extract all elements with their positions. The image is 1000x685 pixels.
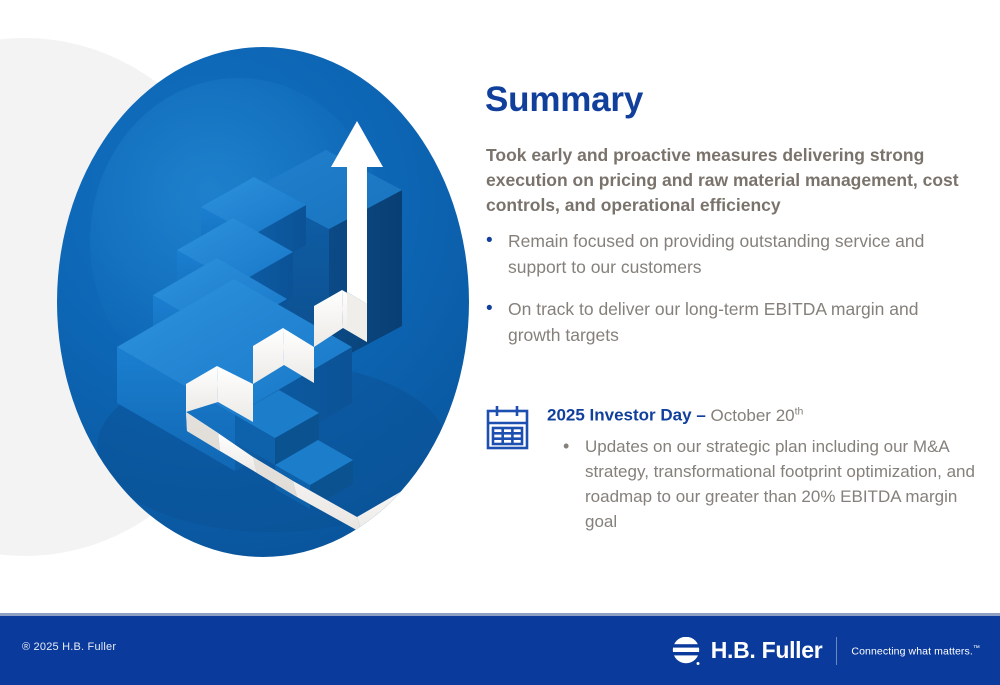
hb-fuller-circle-logo-icon bbox=[672, 635, 702, 667]
page-title: Summary bbox=[485, 80, 643, 120]
list-item: • On track to deliver our long-term EBIT… bbox=[486, 296, 956, 348]
investor-day-date: October 20th bbox=[711, 406, 804, 425]
stairs-illustration bbox=[57, 47, 469, 557]
content-zone: Summary Took early and proactive measure… bbox=[485, 0, 985, 615]
bullet-text: Updates on our strategic plan including … bbox=[585, 434, 985, 534]
bullet-list: • Remain focused on providing outstandin… bbox=[486, 228, 956, 364]
bullet-dot-icon: • bbox=[486, 228, 508, 280]
bullet-dot-icon: • bbox=[486, 296, 508, 348]
brand-logo: H.B. Fuller Connecting what matters.™ bbox=[672, 633, 980, 669]
list-item: • Updates on our strategic plan includin… bbox=[547, 434, 985, 534]
investor-day-body: 2025 Investor Day – October 20th • Updat… bbox=[547, 400, 985, 534]
logo-wordmark: H.B. Fuller bbox=[711, 639, 823, 664]
brand-tagline: Connecting what matters.™ bbox=[851, 645, 980, 658]
bullet-text: On track to deliver our long-term EBITDA… bbox=[508, 296, 956, 348]
trademark-icon: ™ bbox=[973, 645, 980, 652]
slide-root: Summary Took early and proactive measure… bbox=[0, 0, 1000, 685]
bullet-dot-icon: • bbox=[563, 434, 585, 534]
calendar-icon bbox=[485, 404, 530, 451]
calendar-icon-wrap bbox=[485, 400, 547, 534]
list-item: • Remain focused on providing outstandin… bbox=[486, 228, 956, 280]
investor-day-heading: 2025 Investor Day – October 20th bbox=[547, 400, 985, 427]
investor-day-date-suffix: th bbox=[795, 405, 804, 417]
footer-bar: ® 2025 H.B. Fuller H.B. Fuller Connectin… bbox=[0, 616, 1000, 685]
logo-divider bbox=[836, 637, 837, 665]
investor-day-date-text: October 20 bbox=[711, 406, 795, 425]
lead-paragraph: Took early and proactive measures delive… bbox=[486, 143, 964, 218]
tagline-text: Connecting what matters. bbox=[851, 645, 972, 657]
copyright-text: ® 2025 H.B. Fuller bbox=[22, 641, 116, 653]
investor-day-dash: – bbox=[692, 406, 711, 425]
stairs-with-upward-arrow-icon bbox=[57, 47, 469, 557]
investor-day-title: 2025 Investor Day bbox=[547, 406, 692, 425]
bullet-text: Remain focused on providing outstanding … bbox=[508, 228, 956, 280]
investor-day-block: 2025 Investor Day – October 20th • Updat… bbox=[485, 400, 985, 534]
artwork-zone bbox=[0, 0, 480, 615]
